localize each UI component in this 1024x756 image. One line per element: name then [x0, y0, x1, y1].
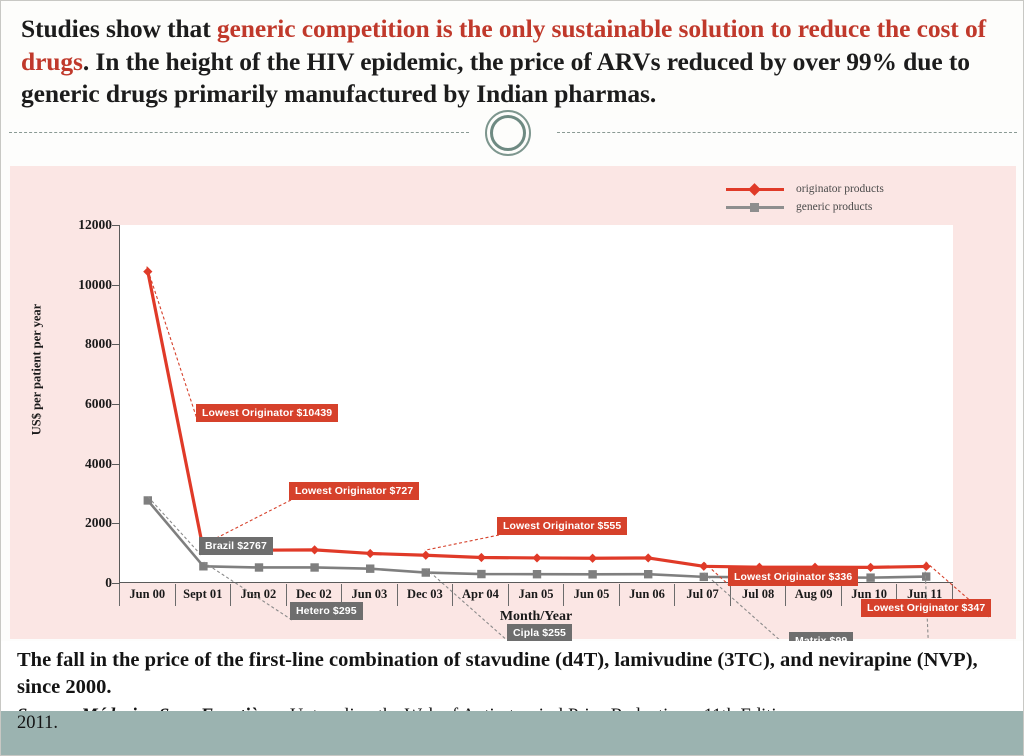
data-point-marker — [922, 572, 930, 580]
data-point-marker — [144, 496, 152, 504]
legend-swatch-originator — [726, 183, 784, 195]
legend-label-generic: generic products — [796, 201, 872, 213]
y-axis-tick-label: 0 — [50, 575, 112, 591]
y-axis-ticks: 020004000600080001000012000 — [42, 225, 112, 583]
chart-annotation-callout: Brazil $2767 — [199, 537, 273, 555]
data-point-marker — [699, 562, 708, 571]
caption-main-text: The fall in the price of the first-line … — [17, 647, 1011, 701]
y-axis-tick-label: 12000 — [50, 217, 112, 233]
x-axis-ticks: Jun 00Sept 01Jun 02Dec 02Jun 03Dec 03Apr… — [119, 584, 953, 606]
x-axis-tick-label: Jun 02 — [230, 584, 286, 606]
y-axis-title: US$ per patient per year — [30, 280, 45, 460]
chart-annotation-callout: Lowest Originator $10439 — [196, 404, 338, 422]
decorative-divider — [1, 132, 1024, 134]
legend-label-originator: originator products — [796, 183, 884, 195]
data-point-marker — [255, 563, 263, 571]
headline-text: Studies show that generic competition is… — [21, 13, 1003, 111]
square-marker-icon — [750, 203, 759, 212]
slide-page: Studies show that generic competition is… — [0, 0, 1024, 756]
data-point-marker — [866, 573, 874, 581]
chart-annotation-callout: Cipla $255 — [507, 624, 572, 642]
data-point-marker — [532, 553, 541, 562]
y-axis-tick-label: 10000 — [50, 277, 112, 293]
data-point-marker — [588, 570, 596, 578]
diamond-marker-icon — [748, 183, 761, 196]
divider-dash-left — [9, 132, 469, 133]
data-point-marker — [644, 553, 653, 562]
data-point-marker — [477, 570, 485, 578]
x-axis-tick-label: Jun 06 — [619, 584, 675, 606]
chart-panel: originator products generic products 020… — [10, 166, 1016, 639]
data-point-marker — [533, 570, 541, 578]
data-point-marker — [421, 551, 430, 560]
x-axis-tick-label: Jan 05 — [508, 584, 564, 606]
data-point-marker — [866, 563, 875, 572]
x-axis-title: Month/Year — [119, 609, 953, 625]
caption-year: 2011. — [17, 713, 58, 734]
data-point-marker — [199, 562, 207, 570]
data-point-marker — [422, 568, 430, 576]
legend-item-generic: generic products — [726, 198, 956, 216]
y-axis-tick-label: 8000 — [50, 336, 112, 352]
chart-annotation-callout: Lowest Originator $555 — [497, 517, 627, 535]
y-axis-tick-label: 4000 — [50, 456, 112, 472]
data-point-marker — [366, 549, 375, 558]
data-point-marker — [700, 573, 708, 581]
legend-item-originator: originator products — [726, 180, 956, 198]
legend-swatch-generic — [726, 201, 784, 213]
data-point-marker — [143, 267, 152, 276]
data-point-marker — [644, 570, 652, 578]
x-axis-tick-label: Apr 04 — [452, 584, 508, 606]
ring-inner-icon — [490, 115, 526, 151]
data-point-marker — [366, 564, 374, 572]
x-axis-tick-label: Jul 08 — [730, 584, 786, 606]
data-point-marker — [310, 545, 319, 554]
bottom-color-band — [1, 711, 1024, 756]
x-axis-tick-label: Jun 00 — [119, 584, 175, 606]
chart-annotation-callout: Lowest Originator $347 — [861, 599, 991, 617]
x-axis-tick-label: Jun 05 — [563, 584, 619, 606]
header-block: Studies show that generic competition is… — [1, 1, 1024, 119]
data-point-marker — [477, 553, 486, 562]
data-point-marker — [588, 554, 597, 563]
chart-legend: originator products generic products — [726, 180, 956, 220]
headline-part-2: . In the height of the HIV epidemic, the… — [21, 47, 970, 109]
chart-annotation-callout: Lowest Originator $336 — [728, 568, 858, 586]
chart-annotation-callout: Hetero $295 — [290, 602, 363, 620]
data-point-marker — [310, 563, 318, 571]
data-point-marker — [922, 562, 931, 571]
y-axis-tick-label: 6000 — [50, 396, 112, 412]
x-axis-tick-label: Jul 07 — [674, 584, 730, 606]
chart-annotation-callout: Lowest Originator $727 — [289, 482, 419, 500]
headline-part-1: Studies show that — [21, 14, 217, 43]
y-axis-tick-label: 2000 — [50, 515, 112, 531]
x-axis-tick-label: Sept 01 — [175, 584, 231, 606]
x-axis-tick-label: Dec 03 — [397, 584, 453, 606]
divider-dash-right — [557, 132, 1017, 133]
x-axis-tick-label: Aug 09 — [785, 584, 841, 606]
